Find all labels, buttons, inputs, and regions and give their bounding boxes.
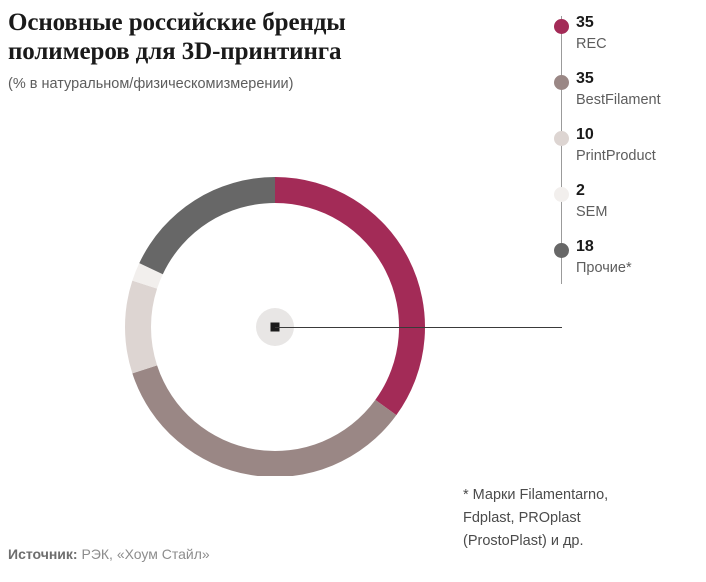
page-title-line-1: Основные российские бренды [8, 9, 346, 36]
legend-item-label: BestFilament [576, 91, 701, 110]
legend-item-label: SEM [576, 203, 701, 222]
legend-item-value: 2 [576, 182, 701, 200]
chart-header: Основные российские бренды полимеров для… [8, 8, 478, 93]
legend-item[interactable]: 2SEM [551, 182, 701, 228]
legend-item-list: 35REC35BestFilament10PrintProduct2SEM18П… [551, 14, 701, 284]
legend-item-label: REC [576, 35, 701, 54]
legend-connector-line [275, 327, 562, 328]
footnote-line-2: Fdplast, PROplast [463, 507, 703, 530]
donut-slice[interactable] [139, 177, 275, 274]
legend-item-label: Прочие* [576, 259, 701, 278]
legend-item-value: 18 [576, 238, 701, 256]
legend-item[interactable]: 18Прочие* [551, 238, 701, 284]
legend-item-value: 35 [576, 14, 701, 32]
legend-item[interactable]: 10PrintProduct [551, 126, 701, 172]
donut-chart [121, 168, 429, 476]
chart-footnote: * Марки Filamentarno, Fdplast, PROplast … [463, 484, 703, 553]
legend-item[interactable]: 35BestFilament [551, 70, 701, 116]
chart-legend: 35REC35BestFilament10PrintProduct2SEM18П… [551, 14, 701, 294]
source-label: Источник: [8, 546, 78, 562]
legend-item[interactable]: 35REC [551, 14, 701, 60]
legend-item-label: PrintProduct [576, 147, 701, 166]
donut-chart-svg [121, 168, 429, 476]
legend-color-dot-icon [554, 75, 569, 90]
page-title: Основные российские бренды полимеров для… [8, 8, 478, 66]
legend-color-dot-icon [554, 131, 569, 146]
legend-item-value: 10 [576, 126, 701, 144]
donut-slice[interactable] [132, 365, 396, 476]
legend-color-dot-icon [554, 187, 569, 202]
legend-item-value: 35 [576, 70, 701, 88]
footnote-line-3: (ProstoPlast) и др. [463, 530, 703, 553]
donut-slice[interactable] [275, 177, 425, 415]
legend-color-dot-icon [554, 19, 569, 34]
footnote-line-1: * Марки Filamentarno, [463, 484, 703, 507]
chart-subtitle: (% в натуральном/физическомизмерении) [8, 75, 478, 93]
source-note: Источник: РЭК, «Хоум Стайл» [8, 546, 210, 562]
legend-color-dot-icon [554, 243, 569, 258]
donut-slice[interactable] [125, 281, 157, 374]
source-text: РЭК, «Хоум Стайл» [78, 546, 210, 562]
page-title-line-2: полимеров для 3D-принтинга [8, 38, 341, 65]
